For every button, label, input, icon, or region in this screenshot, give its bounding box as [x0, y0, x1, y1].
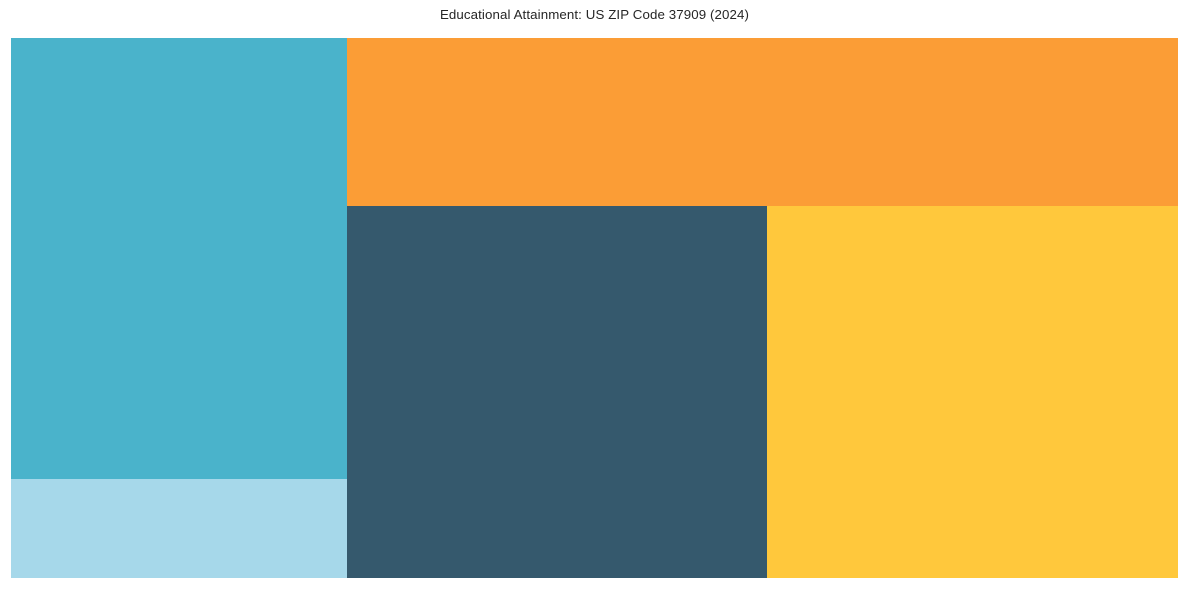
treemap-tile[interactable]: Some College, No Degree: [11, 38, 347, 479]
treemap-tile[interactable]: Less Than High School: [11, 479, 347, 578]
treemap-tile[interactable]: Graduate or Professional Degree: [767, 206, 1178, 578]
treemap-plot-area: Some College, No DegreeLess Than High Sc…: [11, 38, 1178, 578]
treemap-figure: Educational Attainment: US ZIP Code 3790…: [0, 0, 1189, 590]
treemap-tile[interactable]: High School Graduate: [347, 38, 1178, 206]
chart-title: Educational Attainment: US ZIP Code 3790…: [0, 7, 1189, 23]
treemap-tile[interactable]: Bachelor's Degree: [347, 206, 767, 578]
